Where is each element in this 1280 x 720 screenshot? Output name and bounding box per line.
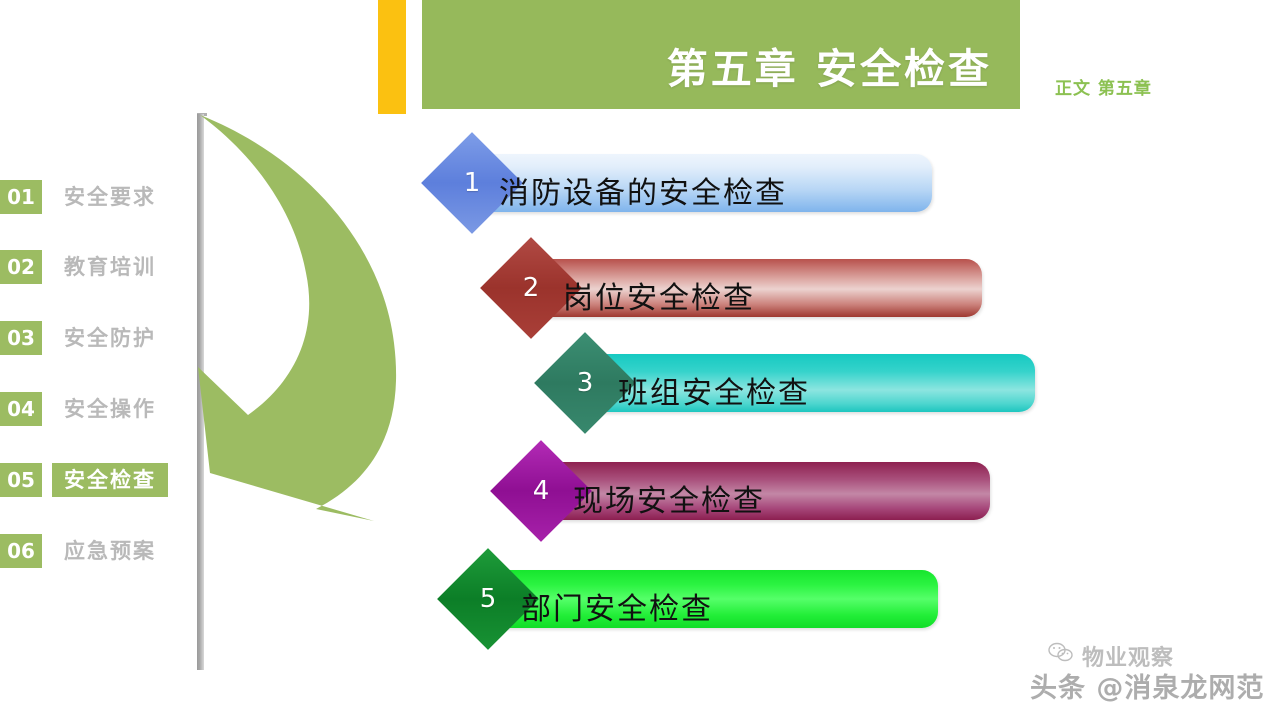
sidebar-item-02[interactable]: 02 教育培训 [0, 250, 168, 284]
content-row-5-label: 部门安全检查 [521, 584, 713, 628]
sidebar-item-04-label: 安全操作 [52, 392, 168, 426]
content-row-2-number: 2 [495, 252, 567, 324]
slide-canvas: 第五章 安全检查 正文 第五章 01 安全要求 02 教育培训 03 安全防护 … [0, 0, 1280, 720]
sidebar-item-06[interactable]: 06 应急预案 [0, 534, 168, 568]
watermark: 物业观察 头条 @消泉龙网范 [1008, 628, 1274, 714]
content-row-5-number: 5 [452, 563, 524, 635]
content-row-1-number: 1 [436, 147, 508, 219]
sidebar-item-04[interactable]: 04 安全操作 [0, 392, 168, 426]
content-row-4-label: 现场安全检查 [573, 476, 765, 520]
content-row-3-label: 班组安全检查 [618, 368, 810, 412]
content-row-3-number: 3 [549, 347, 621, 419]
sidebar-item-05-label: 安全检查 [52, 463, 168, 497]
sidebar-item-03-label: 安全防护 [52, 321, 168, 355]
wechat-icon [1048, 642, 1074, 664]
content-row-2-label: 岗位安全检查 [563, 273, 755, 317]
sidebar-item-06-number: 06 [0, 534, 42, 568]
sidebar-item-05-number: 05 [0, 463, 42, 497]
sidebar-nav: 01 安全要求 02 教育培训 03 安全防护 04 安全操作 05 安全检查 … [0, 150, 200, 650]
sidebar-item-04-number: 04 [0, 392, 42, 426]
sidebar-item-02-label: 教育培训 [52, 250, 168, 284]
header-banner: 第五章 安全检查 [422, 0, 1020, 109]
sidebar-item-03[interactable]: 03 安全防护 [0, 321, 168, 355]
header-accent-bar [378, 0, 406, 114]
watermark-bottom-text: 头条 @消泉龙网范 [1030, 666, 1264, 705]
sidebar-item-02-number: 02 [0, 250, 42, 284]
watermark-top-text: 物业观察 [1082, 640, 1174, 672]
sidebar-item-01-label: 安全要求 [52, 180, 168, 214]
content-row-4-number: 4 [505, 455, 577, 527]
sidebar-item-01-number: 01 [0, 180, 42, 214]
sidebar-item-05[interactable]: 05 安全检查 [0, 463, 168, 497]
content-row-1-label: 消防设备的安全检查 [499, 168, 787, 212]
breadcrumb: 正文 第五章 [1055, 74, 1152, 99]
sidebar-item-06-label: 应急预案 [52, 534, 168, 568]
sidebar-item-03-number: 03 [0, 321, 42, 355]
page-title: 第五章 安全检查 [667, 35, 992, 95]
sidebar-item-01[interactable]: 01 安全要求 [0, 180, 168, 214]
